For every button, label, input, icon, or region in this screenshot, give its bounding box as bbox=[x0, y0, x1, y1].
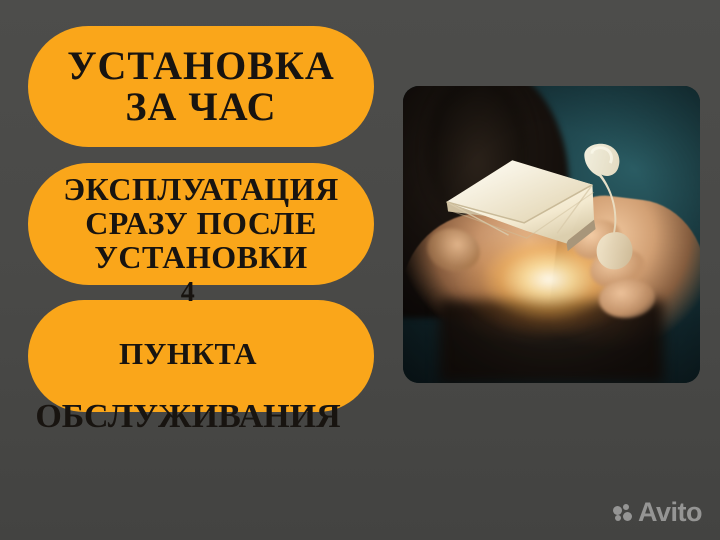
badge-3-line3: ОБСЛУЖИВАНИЯ bbox=[2, 400, 374, 434]
badge-1-text: УСТАНОВКА ЗА ЧАС bbox=[67, 46, 335, 128]
avito-wordmark: Avito bbox=[638, 499, 702, 526]
badge-3-text: 4 ПУНКТА ОБСЛУЖИВАНИЯ bbox=[2, 248, 374, 465]
badge-3-line2: ПУНКТА bbox=[2, 338, 374, 369]
hero-photo bbox=[403, 86, 700, 383]
badge-list: УСТАНОВКА ЗА ЧАС ЭКСПЛУАТАЦИЯ СРАЗУ ПОСЛ… bbox=[0, 0, 400, 540]
badge-service-points: 4 ПУНКТА ОБСЛУЖИВАНИЯ bbox=[28, 300, 374, 412]
badge-3-number: 4 bbox=[2, 279, 374, 307]
badge-installation-hour: УСТАНОВКА ЗА ЧАС bbox=[28, 26, 374, 147]
poster: УСТАНОВКА ЗА ЧАС ЭКСПЛУАТАЦИЯ СРАЗУ ПОСЛ… bbox=[0, 0, 720, 540]
avito-dots-logo bbox=[613, 504, 633, 522]
avito-watermark: Avito bbox=[613, 499, 702, 526]
